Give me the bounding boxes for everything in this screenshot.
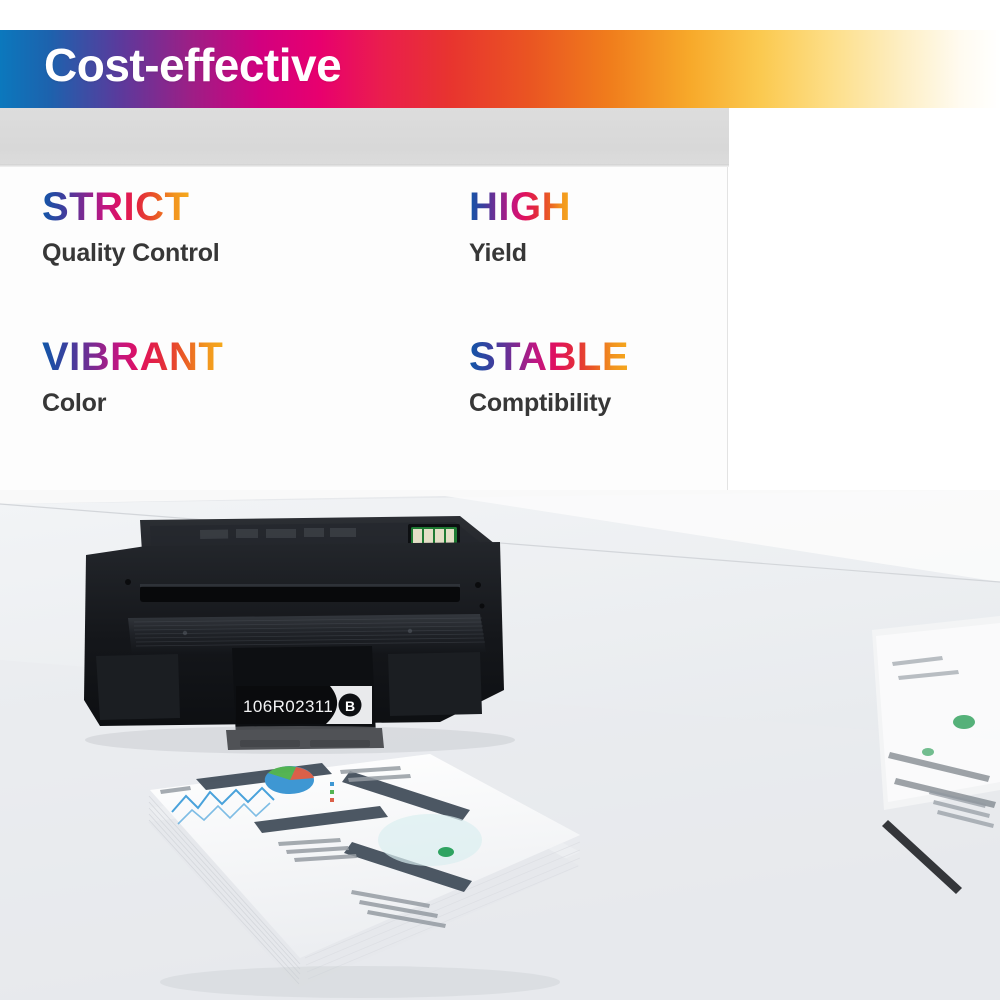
marketing-product-page: Cost-effective STRICT Quality Control HI…	[0, 0, 1000, 1000]
cartridge-label: 106R02311 B	[236, 686, 372, 724]
feature-title-high: HIGH	[469, 187, 571, 227]
feature-grid: STRICT Quality Control HIGH Yield VIBRAN…	[0, 167, 1000, 492]
feature-high: HIGH Yield	[427, 187, 1000, 337]
feature-strict: STRICT Quality Control	[0, 187, 427, 337]
product-photo: 106R02311 B	[0, 490, 1000, 1000]
feature-title-stable: STABLE	[469, 337, 629, 377]
feature-stable: STABLE Comptibility	[427, 337, 1000, 487]
feature-subtitle-vibrant: Color	[42, 391, 427, 416]
feature-vibrant: VIBRANT Color	[0, 337, 427, 487]
feature-subtitle-stable: Comptibility	[469, 391, 1000, 416]
feature-title-strict: STRICT	[42, 187, 189, 227]
gray-band	[0, 108, 729, 166]
feature-subtitle-strict: Quality Control	[42, 241, 427, 266]
report-pie-chart	[265, 766, 314, 794]
feature-subtitle-high: Yield	[469, 241, 1000, 266]
label-color-code: B	[345, 698, 355, 714]
feature-title-vibrant: VIBRANT	[42, 337, 223, 377]
top-white-strip	[0, 0, 1000, 30]
label-part-number: 106R02311	[243, 697, 333, 716]
page-title: Cost-effective	[44, 42, 341, 88]
